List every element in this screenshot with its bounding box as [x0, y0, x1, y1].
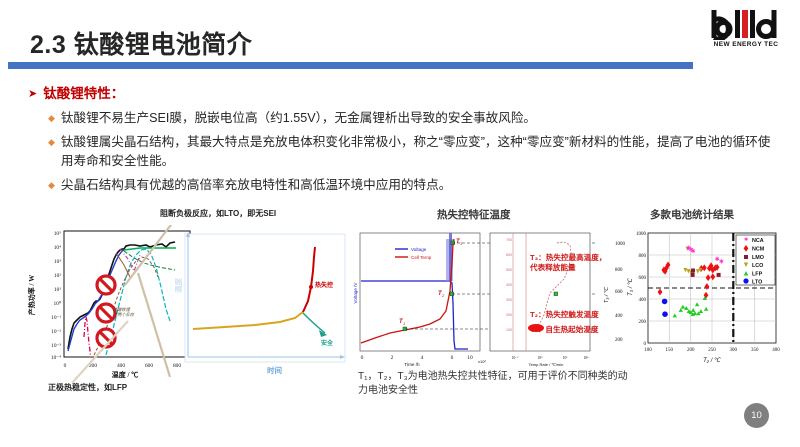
svg-text:10⁻³: 10⁻³	[51, 343, 61, 349]
svg-text:100: 100	[644, 348, 652, 353]
svg-text:Voltage: Voltage	[411, 247, 427, 252]
svg-text:1000: 1000	[636, 232, 647, 237]
list-item-label: 尖晶石结构具有优越的高倍率充放电特性和高低温环境中应用的特点。	[61, 176, 451, 195]
arrow-bullet-icon: ➤	[28, 86, 37, 102]
svg-text:10⁴: 10⁴	[584, 356, 590, 360]
svg-text:400: 400	[117, 363, 125, 369]
svg-text:x10²: x10²	[478, 359, 486, 364]
bullet-list: ➤ 钛酸锂特性： ◆ 钛酸锂不易生产SEI膜，脱嵌电位高（约1.55V），无金属…	[28, 86, 776, 200]
list-item-label: 钛酸锂不易生产SEI膜，脱嵌电位高（约1.55V），无金属锂析出导致的安全事故风…	[61, 109, 536, 128]
svg-text:10⁰: 10⁰	[537, 356, 543, 360]
svg-text:LCO: LCO	[752, 263, 763, 269]
svg-text:Temp Rate / ℃/min: Temp Rate / ℃/min	[529, 362, 564, 367]
svg-text:LMO: LMO	[752, 255, 764, 261]
svg-text:100: 100	[506, 328, 512, 332]
svg-text:NCA: NCA	[752, 238, 764, 244]
bullet-heading: ➤ 钛酸锂特性：	[28, 86, 776, 102]
list-item-label: 钛酸锂属尖晶石结构，其最大特点是充放电体积变化非常极小，称之“零应变”，这种“零…	[61, 133, 776, 171]
title-underline-bar	[8, 62, 693, 69]
mid-annotation-t1: T₁：自生热起始温度	[530, 325, 599, 335]
svg-text:200: 200	[639, 320, 647, 325]
svg-text:400: 400	[772, 348, 780, 353]
svg-text:温度 / ℃: 温度 / ℃	[112, 370, 138, 379]
svg-text:Cell Temp: Cell Temp	[411, 255, 432, 260]
svg-text:LFP: LFP	[752, 272, 763, 278]
page-number-badge: 10	[744, 403, 769, 428]
svg-text:400: 400	[615, 314, 623, 319]
svg-text:✱: ✱	[719, 259, 724, 266]
svg-text:600: 600	[145, 363, 153, 369]
svg-text:温度: 温度	[175, 278, 183, 293]
svg-text:600: 600	[639, 276, 647, 281]
svg-text:10⁴: 10⁴	[54, 245, 61, 251]
svg-text:T₃ / ℃: T₃ / ℃	[627, 278, 634, 296]
svg-text:热失控: 热失控	[315, 281, 333, 289]
blocked-reaction-icon	[97, 276, 115, 294]
figure-bottom-caption: T₁，T₂，T₃为电池热失控共性特征，可用于评价不同种类的动力电池安全性	[358, 370, 628, 398]
svg-text:✱: ✱	[690, 248, 695, 255]
svg-text:350: 350	[751, 348, 759, 353]
temperature-vs-time-chart: 热失控 安全 时间 温度	[175, 229, 350, 379]
right-figure-caption: 多款电池统计结果	[650, 207, 734, 222]
svg-text:400: 400	[506, 283, 512, 287]
svg-text:10⁵: 10⁵	[54, 231, 61, 237]
svg-text:150: 150	[666, 348, 674, 353]
diamond-bullet-icon: ◆	[48, 176, 55, 195]
svg-text:2: 2	[391, 355, 394, 361]
svg-text:10²: 10²	[563, 356, 568, 360]
svg-text:时间: 时间	[267, 365, 282, 375]
svg-text:1000: 1000	[615, 242, 626, 247]
svg-text:800: 800	[639, 254, 647, 259]
diamond-bullet-icon: ◆	[48, 109, 55, 128]
svg-text:200: 200	[615, 338, 623, 343]
svg-text:400: 400	[639, 298, 647, 303]
list-item: ◆ 钛酸锂不易生产SEI膜，脱嵌电位高（约1.55V），无金属锂析出导致的安全事…	[48, 109, 776, 128]
svg-text:0: 0	[644, 342, 647, 347]
svg-text:产热功率 / W: 产热功率 / W	[27, 275, 36, 315]
svg-text:1: 1	[403, 321, 405, 326]
svg-text:NCM: NCM	[752, 247, 765, 253]
svg-text:10²: 10²	[54, 273, 61, 279]
diamond-bullet-icon: ◆	[48, 133, 55, 152]
svg-text:300: 300	[506, 298, 512, 302]
svg-text:10³: 10³	[54, 259, 61, 265]
svg-text:500: 500	[506, 268, 512, 272]
svg-text:10¹: 10¹	[54, 287, 61, 293]
svg-text:10⁻²: 10⁻²	[51, 329, 61, 335]
svg-text:0: 0	[64, 363, 67, 369]
svg-text:600: 600	[506, 253, 512, 257]
svg-text:T₃ / ℃: T₃ / ℃	[603, 286, 610, 303]
left-figure-annotation-top: 阻断负极反应，如LTO，即无SEI	[160, 208, 276, 219]
svg-text:10⁰: 10⁰	[53, 301, 61, 307]
svg-text:6: 6	[451, 355, 454, 361]
battery-statistics-scatter-chart: 100150 200250 300350 400 1000800 600400 …	[626, 225, 796, 380]
svg-text:200: 200	[506, 313, 512, 317]
svg-text:10⁻⁴: 10⁻⁴	[51, 355, 61, 361]
svg-text:安全: 安全	[321, 339, 334, 347]
mid-annotation-t3: T₃：热失控最高温度，代表释放能量	[530, 253, 608, 273]
svg-text:4: 4	[421, 355, 424, 361]
svg-text:T₂ / ℃: T₂ / ℃	[703, 357, 721, 364]
slide: 2.3 钛酸锂电池简介 NEW ENERGY TEC ➤ 钛酸锂特性： ◆ 钛酸…	[0, 0, 800, 447]
bld-logo-icon	[710, 8, 780, 40]
svg-text:10⁻²: 10⁻²	[512, 356, 519, 360]
svg-text:Time /h: Time /h	[404, 362, 420, 367]
svg-text:300: 300	[730, 348, 738, 353]
svg-text:10⁻¹: 10⁻¹	[51, 315, 61, 321]
svg-text:250: 250	[708, 348, 716, 353]
svg-text:0: 0	[361, 355, 364, 361]
svg-text:LTO: LTO	[752, 280, 762, 286]
svg-text:800: 800	[615, 268, 623, 273]
list-item: ◆ 钛酸锂属尖晶石结构，其最大特点是充放电体积变化非常极小，称之“零应变”，这种…	[48, 133, 776, 171]
thermal-runaway-characteristic-temperature-chart: Voltage Cell Temp T 1 T 2 T 3 0	[350, 223, 640, 383]
svg-text:600: 600	[615, 290, 623, 295]
svg-text:Voltage /V: Voltage /V	[353, 282, 358, 304]
svg-text:10: 10	[467, 355, 473, 361]
mid-annotation-t2: T₂：热失控触发温度	[530, 310, 599, 320]
company-logo: NEW ENERGY TEC	[700, 8, 790, 54]
svg-text:200: 200	[687, 348, 695, 353]
page-title: 2.3 钛酸锂电池简介	[30, 25, 252, 61]
bullet-heading-label: 钛酸锂特性：	[43, 86, 124, 102]
svg-text:700: 700	[506, 238, 512, 242]
left-figure-inline-note: 磷酸铁锂有两个反应	[113, 307, 134, 317]
mid-figure-caption: 热失控特征温度	[437, 207, 511, 222]
logo-tagline: NEW ENERGY TEC	[708, 41, 784, 48]
list-item: ◆ 尖晶石结构具有优越的高倍率充放电特性和高低温环境中应用的特点。	[48, 176, 776, 195]
